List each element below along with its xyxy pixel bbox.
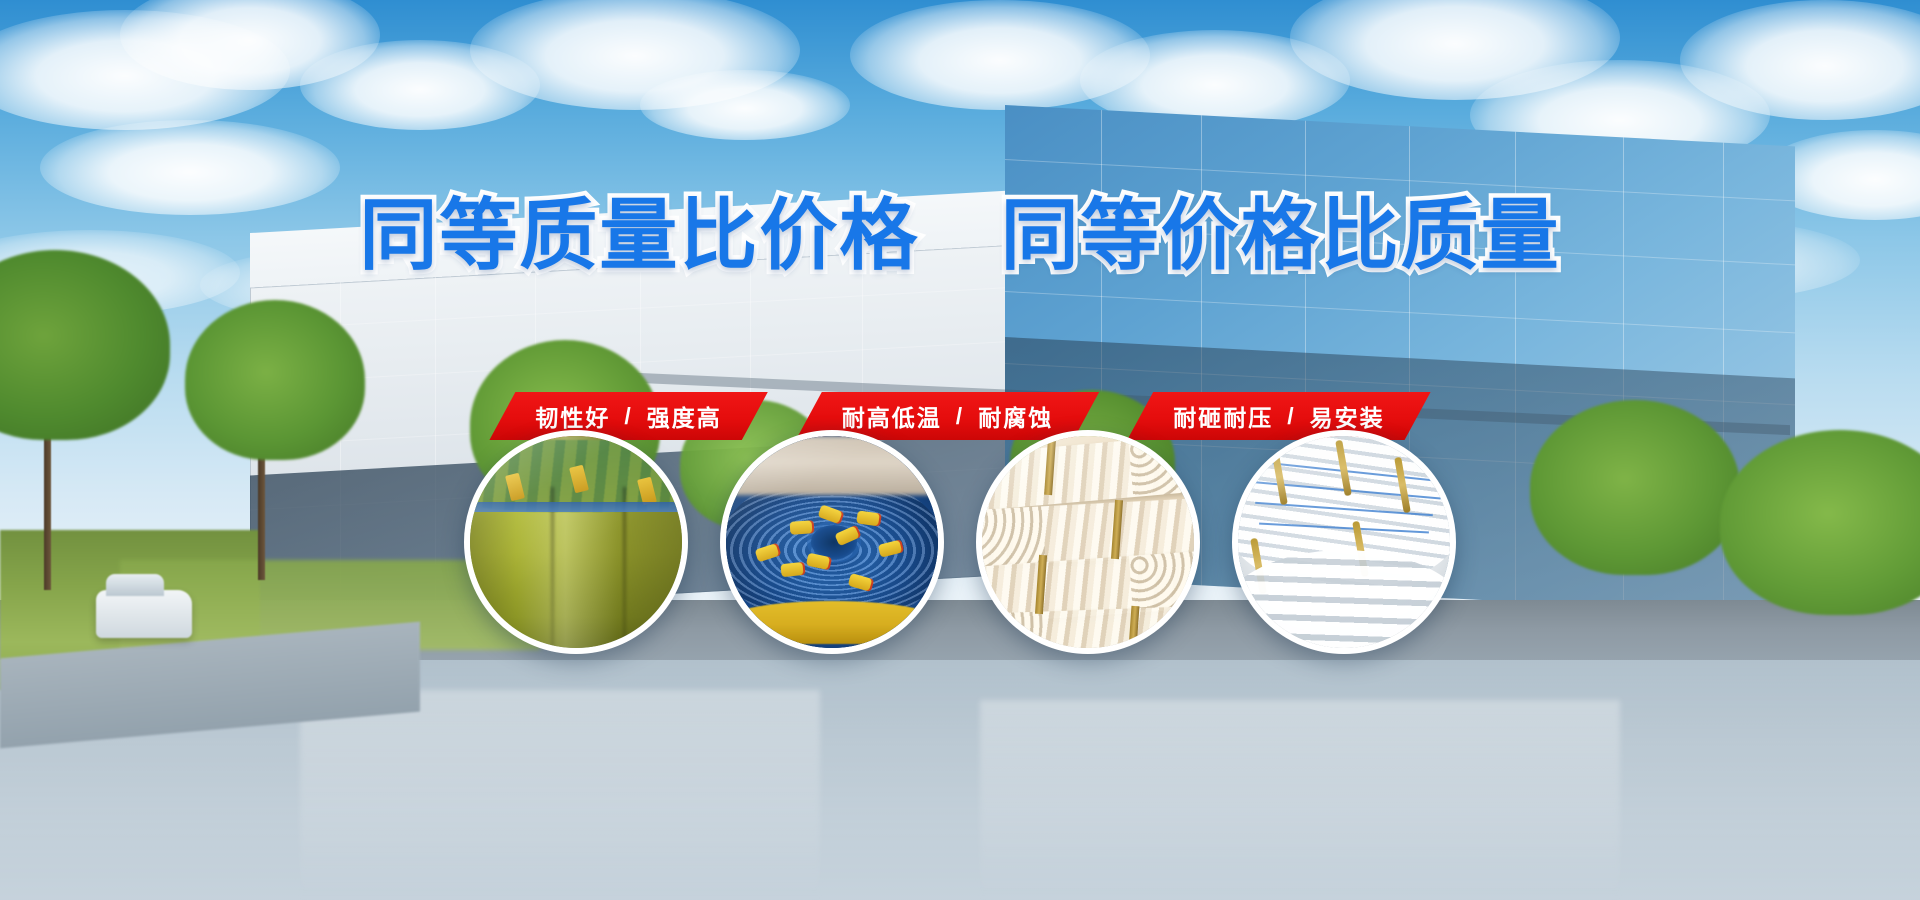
feature-tag-1-right: 强度高	[647, 399, 722, 433]
headline-part-1: 同等质量比价格	[359, 191, 919, 279]
product-circle-olive-hose-rolls[interactable]	[464, 430, 688, 654]
cloud	[120, 0, 380, 90]
olive-hose-rolls-image	[470, 436, 682, 648]
cloud	[1290, 0, 1620, 100]
feature-tag-3-left: 耐砸耐压	[1173, 399, 1273, 433]
reflection-streak	[980, 700, 1620, 900]
headline-part-2: 同等价格比质量	[1001, 191, 1561, 279]
cloud	[470, 0, 800, 110]
hero-banner: 同等质量比价格 同等价格比质量 韧性好 / 强度高 耐高低温 / 耐腐蚀 耐砸耐…	[0, 0, 1920, 900]
product-circle-list	[0, 430, 1920, 654]
feature-tag-1-left: 韧性好	[535, 399, 610, 433]
white-coiled-pe-pipe-image	[1238, 436, 1450, 648]
feature-tag-2-separator: /	[942, 403, 978, 430]
feature-tag-2-right: 耐腐蚀	[978, 399, 1053, 433]
cloud	[0, 10, 290, 130]
product-circle-blue-yellow-layflat-coil[interactable]	[720, 430, 944, 654]
cream-pe-pipe-bundles-image	[982, 436, 1194, 648]
product-circle-cream-pe-pipe-bundles[interactable]	[976, 430, 1200, 654]
feature-tag-1-separator: /	[610, 403, 646, 430]
blue-yellow-layflat-coil-image	[726, 436, 938, 648]
cloud	[1680, 0, 1920, 120]
feature-tag-3-separator: /	[1273, 403, 1309, 430]
cloud	[850, 0, 1150, 110]
banner-headline: 同等质量比价格 同等价格比质量	[0, 196, 1920, 274]
feature-tag-3-right: 易安装	[1310, 399, 1385, 433]
reflection-streak	[300, 690, 820, 900]
feature-tag-2-left: 耐高低温	[842, 399, 942, 433]
product-circle-white-coiled-pe-pipe[interactable]	[1232, 430, 1456, 654]
